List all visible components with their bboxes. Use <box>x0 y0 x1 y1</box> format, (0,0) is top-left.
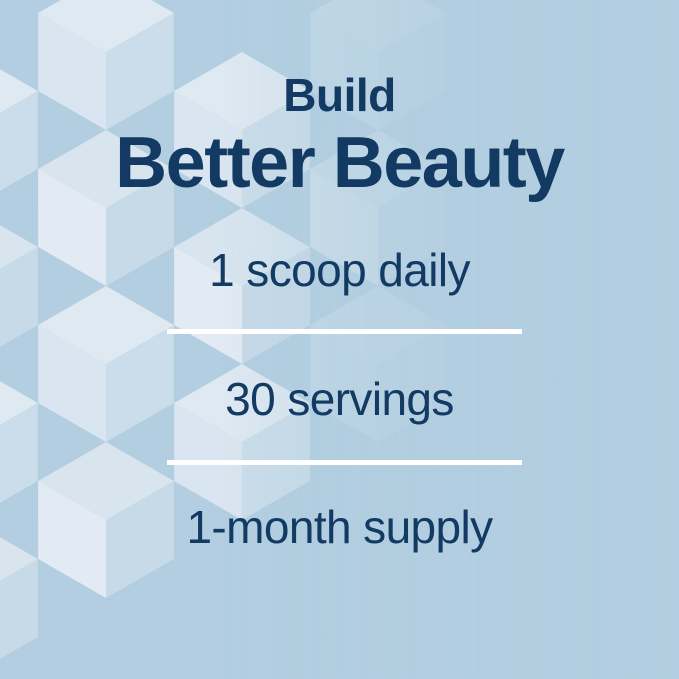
benefit-item-servings-count: 30 servings <box>0 376 679 422</box>
product-info-panel: Build Better Beauty 1 scoop daily 30 ser… <box>0 0 679 679</box>
benefit-item-supply-duration: 1-month supply <box>0 504 679 550</box>
divider-after-servings <box>167 460 522 465</box>
divider-after-scoop <box>167 329 522 334</box>
page-title: Better Beauty <box>0 127 679 199</box>
benefit-item-serving-size: 1 scoop daily <box>0 247 679 293</box>
content-layer: Build Better Beauty 1 scoop daily 30 ser… <box>0 0 679 679</box>
eyebrow-text: Build <box>0 72 679 118</box>
